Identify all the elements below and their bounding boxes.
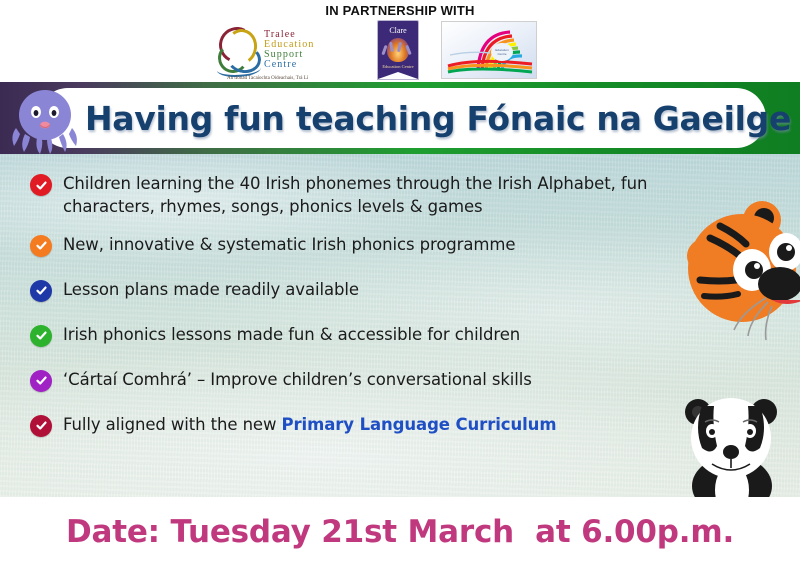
clare-logo-figures-icon	[381, 39, 415, 63]
list-item-label: Irish phonics lessons made fun & accessi…	[63, 323, 520, 346]
event-date-text: Date: Tuesday 21st March at 6.00p.m.	[66, 514, 734, 550]
footer-area: Date: Tuesday 21st March at 6.00p.m.	[0, 497, 800, 566]
partner-logos-row: Tralee Education Support Centre An tIona…	[215, 20, 585, 80]
feature-bullet-list: Children learning the 40 Irish phonemes …	[30, 172, 670, 458]
check-circle-icon	[30, 325, 52, 347]
list-item: Irish phonics lessons made fun & accessi…	[30, 323, 670, 347]
list-item: Lesson plans made readily available	[30, 278, 670, 302]
list-item-label: Children learning the 40 Irish phonemes …	[63, 172, 670, 219]
check-circle-icon	[30, 280, 52, 302]
octopus-mascot	[6, 84, 84, 154]
list-item: ‘Cártaí Comhrá’ – Improve children’s con…	[30, 368, 670, 392]
partnership-strip: IN PARTNERSHIP WITH Tralee Education Sup…	[0, 0, 800, 82]
education-centre-rainbow-logo: Education Centre	[441, 21, 537, 79]
list-item: Fully aligned with the new Primary Langu…	[30, 413, 670, 437]
badger-mascot	[672, 386, 792, 497]
page-title: Having fun teaching Fónaic na Gaeilge	[108, 82, 768, 154]
tralee-logo-line-4: Centre	[264, 60, 314, 70]
list-item-label-prefix: Fully aligned with the new	[63, 415, 282, 434]
check-circle-icon	[30, 174, 52, 196]
check-circle-icon	[30, 235, 52, 257]
tralee-logo-wordmark: Tralee Education Support Centre	[264, 30, 314, 71]
list-item: New, innovative & systematic Irish phoni…	[30, 233, 670, 257]
check-circle-icon	[30, 370, 52, 392]
list-item: Children learning the 40 Irish phonemes …	[30, 172, 670, 219]
svg-text:Centre: Centre	[497, 52, 506, 56]
tralee-education-support-centre-logo: Tralee Education Support Centre An tIona…	[215, 21, 355, 79]
clare-logo-title: Clare	[378, 26, 418, 35]
tralee-logo-mark-icon	[215, 25, 261, 75]
list-item-label: Fully aligned with the new Primary Langu…	[63, 413, 556, 436]
primary-language-curriculum-link[interactable]: Primary Language Curriculum	[282, 415, 557, 434]
tralee-logo-irish-subtitle: An tIonad Tacaíochta Oideachais, Trá Lí	[227, 76, 308, 81]
clare-education-centre-logo: Clare Education Centre	[377, 20, 419, 80]
list-item-label: New, innovative & systematic Irish phoni…	[63, 233, 515, 256]
list-item-label: Lesson plans made readily available	[63, 278, 359, 301]
list-item-label: ‘Cártaí Comhrá’ – Improve children’s con…	[63, 368, 532, 391]
partnership-heading: IN PARTNERSHIP WITH	[0, 3, 800, 18]
rainbow-swoosh-icon: Education Centre	[442, 22, 536, 78]
poster-body: Children learning the 40 Irish phonemes …	[0, 154, 800, 497]
check-circle-icon	[30, 415, 52, 437]
tiger-mascot	[680, 182, 800, 357]
clare-logo-subtitle: Education Centre	[378, 64, 418, 70]
